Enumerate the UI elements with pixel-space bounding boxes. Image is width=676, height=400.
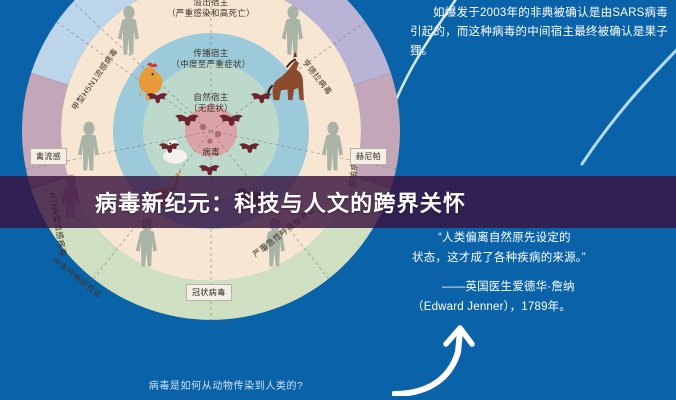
ring-label-bridge-line2: （中度至严重症状） [171, 59, 250, 69]
ring-label-spillover-line2: （严重感染和高死亡） [167, 8, 255, 18]
page-title: 病毒新纪元：科技与人文的跨界关怀 [0, 176, 676, 228]
ring-label-bridge: 传播宿主 （中度至严重症状） [136, 48, 286, 69]
badge-henipavirus: 赫尼帕 [350, 148, 387, 165]
diagram-caption: 病毒是如何从动物传染到人类的? [0, 377, 452, 392]
top-paragraph: 如爆发于2003年的非典被确认是由SARS病毒引起的，而这种病毒的中间宿主最终被… [410, 4, 668, 61]
ring-label-natural-line1: 自然宿主 [193, 92, 228, 102]
quote-line-2: 状态，这才成了各种疾病的来源。” [412, 248, 664, 268]
badge-coronavirus: 冠状病毒 [186, 284, 232, 301]
ring-label-bridge-line1: 传播宿主 [193, 48, 228, 58]
infographic-canvas: 病毒 溢出宿主 （严重感染和高死亡） 传播宿主 （中度至严重症状） 自然宿主 （… [0, 0, 676, 400]
virus-transmission-wheel: 病毒 溢出宿主 （严重感染和高死亡） 传播宿主 （中度至严重症状） 自然宿主 （… [22, 0, 400, 320]
quote-block: “人类偏离自然原先设定的 状态，这才成了各种疾病的来源。” ——英国医生爱德华·… [412, 228, 664, 318]
ring-label-natural-line2: （无症状） [189, 103, 233, 113]
quote-line-1: “人类偏离自然原先设定的 [412, 228, 664, 248]
ring-label-core: 病毒 [180, 147, 242, 158]
ring-label-spillover-line1: 溢出宿主 [193, 0, 228, 7]
ring-label-spillover: 溢出宿主 （严重感染和高死亡） [131, 0, 291, 18]
right-swoosh-line [560, 42, 676, 172]
quote-attribution-2: （Edward Jenner），1789年。 [412, 297, 664, 317]
quote-attribution-1: ——英国医生爱德华·詹纳 [412, 277, 664, 297]
badge-avian-influenza: 禽流感 [30, 148, 67, 165]
ring-label-natural: 自然宿主 （无症状） [150, 92, 272, 113]
